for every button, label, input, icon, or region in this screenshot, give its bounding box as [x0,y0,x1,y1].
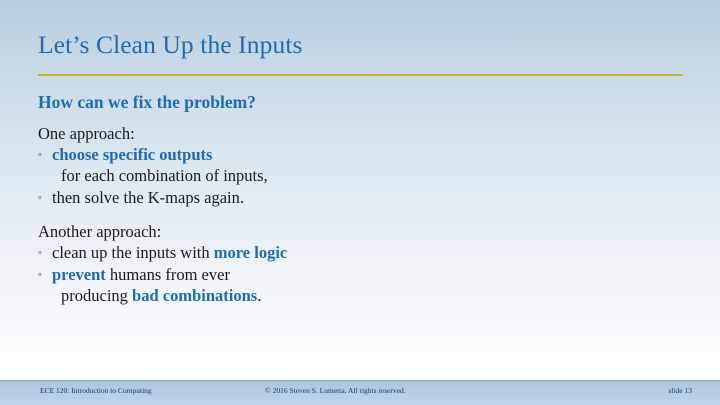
bullet-icon: ◦ [38,145,42,166]
slide-footer: ECE 120: Introduction to Computing © 201… [0,381,720,405]
bullet-3-bold: more logic [214,243,287,262]
page-title: Let’s Clean Up the Inputs [38,30,303,60]
approach-one-list: ◦ choose specific outputs for each combi… [38,145,688,209]
bullet-4-rest: humans from ever [106,265,230,284]
bullet-4-line2-bold: bad combinations [132,286,257,305]
approach-one-label: One approach: [38,123,688,144]
bullet-2-line1: then solve the K-maps again. [52,188,244,207]
bullet-1-line1: choose specific outputs [52,145,212,164]
list-item: ◦ prevent humans from ever producing bad… [38,265,688,307]
approach-two-label: Another approach: [38,221,688,242]
slide: Let’s Clean Up the Inputs How can we fix… [0,0,720,405]
list-item: ◦ clean up the inputs with more logic [38,243,688,264]
approach-two-list: ◦ clean up the inputs with more logic ◦ … [38,243,688,307]
question-heading: How can we fix the problem? [38,92,688,113]
list-item: ◦ then solve the K-maps again. [38,188,688,209]
slide-body: How can we fix the problem? One approach… [38,92,688,307]
list-item: ◦ choose specific outputs for each combi… [38,145,688,187]
bullet-icon: ◦ [38,188,42,209]
bullet-icon: ◦ [38,265,42,286]
bullet-4-line2: producing bad combinations. [52,286,688,307]
title-divider [38,74,683,76]
bullet-4-line2-prefix: producing [61,286,132,305]
bullet-icon: ◦ [38,243,42,264]
bullet-3-prefix: clean up the inputs with [52,243,214,262]
bullet-4-line2-suffix: . [257,286,261,305]
footer-course-label: ECE 120: Introduction to Computing [40,386,152,395]
spacer [38,209,688,221]
bullet-4-bold-lead: prevent [52,265,106,284]
bullet-1-line2: for each combination of inputs, [52,166,688,187]
footer-slide-number: slide 13 [668,386,692,395]
footer-copyright: © 2016 Steven S. Lumetta. All rights res… [265,386,406,395]
